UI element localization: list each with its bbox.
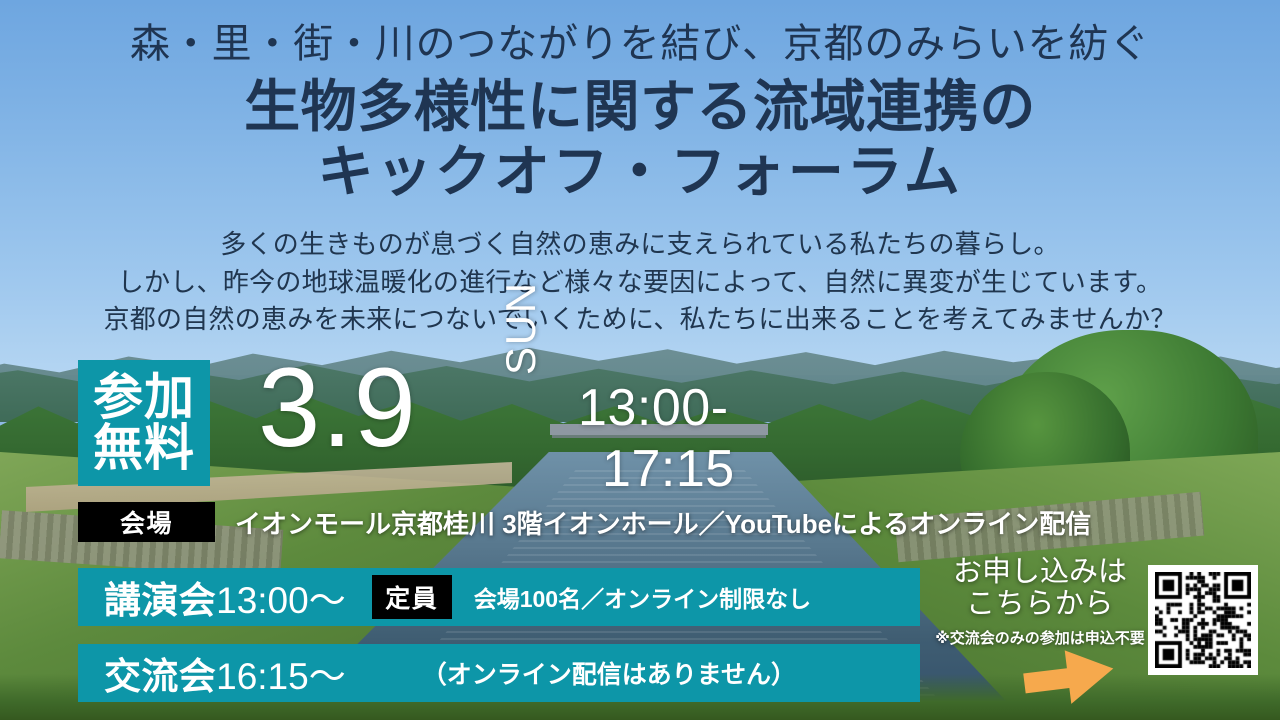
poster-lede: 多くの生きものが息づく自然の恵みに支えられている私たちの暮らし。 しかし、昨今の… bbox=[0, 226, 1280, 339]
capacity-tag: 定員 bbox=[372, 575, 452, 619]
headline-block: 森・里・街・川のつながりを結び、京都のみらいを紡ぐ 生物多様性に関する流域連携の… bbox=[0, 22, 1280, 204]
session-lecture-title: 講演会13:00～ bbox=[104, 570, 346, 624]
free-badge-line2: 無料 bbox=[93, 423, 195, 474]
lede-line-2: しかし、昨今の地球温暖化の進行など様々な要因によって、自然に異変が生じています。 bbox=[0, 264, 1280, 302]
venue-row: 会場 イオンモール京都桂川 3階イオンホール／YouTubeによるオンライン配信 bbox=[78, 502, 1091, 542]
poster-kicker: 森・里・街・川のつながりを結び、京都のみらいを紡ぐ bbox=[0, 22, 1280, 67]
session-social-bar: 交流会16:15～ （オンライン配信はありません） bbox=[78, 644, 920, 702]
venue-text: イオンモール京都桂川 3階イオンホール／YouTubeによるオンライン配信 bbox=[235, 504, 1091, 541]
apply-block: お申し込みは こちらから ※交流会のみの参加は申込不要 bbox=[935, 556, 1145, 648]
session-lecture-name: 講演会 bbox=[104, 580, 216, 621]
poster-title-line1: 生物多様性に関する流域連携の bbox=[0, 73, 1280, 140]
lede-line-3: 京都の自然の恵みを未来につないでいくために、私たちに出来ることを考えてみませんか… bbox=[0, 301, 1280, 339]
session-social-time: 16:15～ bbox=[216, 656, 346, 697]
session-social-title: 交流会16:15～ bbox=[104, 646, 346, 700]
apply-note: ※交流会のみの参加は申込不要 bbox=[935, 627, 1145, 648]
arrow-right-icon bbox=[1022, 648, 1116, 706]
free-admission-badge: 参加 無料 bbox=[78, 360, 210, 486]
session-lecture-time: 13:00～ bbox=[216, 580, 346, 621]
venue-tag: 会場 bbox=[78, 502, 215, 542]
event-weekday: SUN bbox=[497, 281, 545, 375]
event-date: 3.9 bbox=[258, 352, 417, 464]
apply-line1: お申し込みは bbox=[935, 556, 1145, 588]
poster-title-line2: キックオフ・フォーラム bbox=[0, 140, 1280, 204]
session-social-note: （オンライン配信はありません） bbox=[422, 655, 796, 691]
capacity-note: 会場100名／オンライン制限なし bbox=[474, 580, 811, 614]
event-poster: 森・里・街・川のつながりを結び、京都のみらいを紡ぐ 生物多様性に関する流域連携の… bbox=[0, 0, 1280, 720]
lede-line-1: 多くの生きものが息づく自然の恵みに支えられている私たちの暮らし。 bbox=[0, 226, 1280, 264]
free-badge-line1: 参加 bbox=[93, 372, 195, 423]
event-time-end: 17:15 bbox=[578, 439, 735, 500]
session-lecture-bar: 講演会13:00～ 定員 会場100名／オンライン制限なし bbox=[78, 568, 920, 626]
apply-line2: こちらから bbox=[935, 588, 1145, 620]
event-time-start: 13:00- bbox=[578, 378, 735, 439]
session-social-name: 交流会 bbox=[104, 656, 216, 697]
event-time: 13:00- 17:15 bbox=[578, 378, 735, 501]
qr-code-icon[interactable] bbox=[1148, 565, 1258, 675]
